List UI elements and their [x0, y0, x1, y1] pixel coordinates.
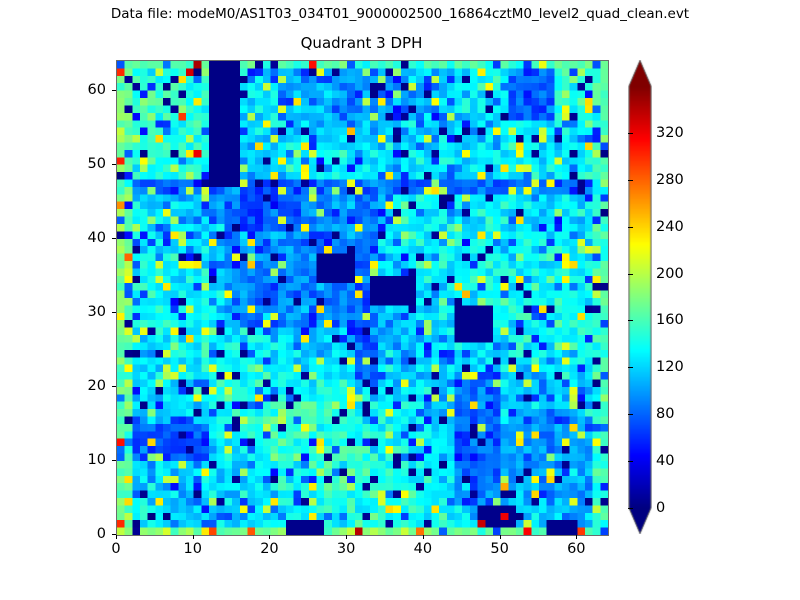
colorbar-gradient — [628, 60, 652, 534]
matplotlib-figure: Data file: modeM0/AS1T03_034T01_90000025… — [0, 0, 800, 600]
x-tick-label: 50 — [470, 540, 530, 558]
colorbar-tick-mark — [628, 461, 633, 462]
colorbar-tick-label: 200 — [656, 265, 684, 283]
colorbar[interactable] — [628, 60, 652, 534]
colorbar-tick-label: 0 — [656, 499, 665, 517]
colorbar-tick-mark — [628, 320, 633, 321]
y-tick-label: 0 — [48, 525, 106, 543]
heatmap-plot-area[interactable] — [116, 60, 609, 536]
colorbar-tick-label: 320 — [656, 124, 684, 142]
x-tick-label: 30 — [316, 540, 376, 558]
y-tick-label: 10 — [48, 451, 106, 469]
x-tick-mark — [576, 535, 577, 539]
y-tick-label: 20 — [48, 377, 106, 395]
colorbar-tick-mark — [628, 414, 633, 415]
y-tick-label: 50 — [48, 155, 106, 173]
y-tick-label: 60 — [48, 81, 106, 99]
y-tick-mark — [112, 164, 116, 165]
x-tick-mark — [346, 535, 347, 539]
y-tick-mark — [112, 534, 116, 535]
x-tick-label: 60 — [546, 540, 606, 558]
x-tick-label: 40 — [393, 540, 453, 558]
colorbar-tick-label: 280 — [656, 171, 684, 189]
x-tick-mark — [116, 535, 117, 539]
dph-heatmap-image[interactable] — [117, 61, 608, 535]
colorbar-tick-mark — [628, 227, 633, 228]
x-tick-mark — [500, 535, 501, 539]
colorbar-tick-mark — [628, 133, 633, 134]
x-tick-mark — [193, 535, 194, 539]
x-tick-label: 10 — [163, 540, 223, 558]
x-tick-label: 20 — [239, 540, 299, 558]
page-title: Quadrant 3 DPH — [116, 33, 607, 53]
colorbar-tick-label: 160 — [656, 311, 684, 329]
x-tick-mark — [269, 535, 270, 539]
y-tick-mark — [112, 312, 116, 313]
y-tick-mark — [112, 386, 116, 387]
colorbar-tick-mark — [628, 367, 633, 368]
y-tick-mark — [112, 238, 116, 239]
colorbar-tick-mark — [628, 508, 633, 509]
colorbar-tick-label: 240 — [656, 218, 684, 236]
y-tick-mark — [112, 90, 116, 91]
x-tick-mark — [423, 535, 424, 539]
data-file-suptitle: Data file: modeM0/AS1T03_034T01_90000025… — [0, 5, 800, 23]
colorbar-tick-label: 40 — [656, 452, 674, 470]
y-tick-label: 30 — [48, 303, 106, 321]
colorbar-tick-mark — [628, 274, 633, 275]
y-tick-mark — [112, 460, 116, 461]
colorbar-tick-label: 120 — [656, 358, 684, 376]
colorbar-tick-label: 80 — [656, 405, 674, 423]
y-tick-label: 40 — [48, 229, 106, 247]
colorbar-tick-mark — [628, 180, 633, 181]
